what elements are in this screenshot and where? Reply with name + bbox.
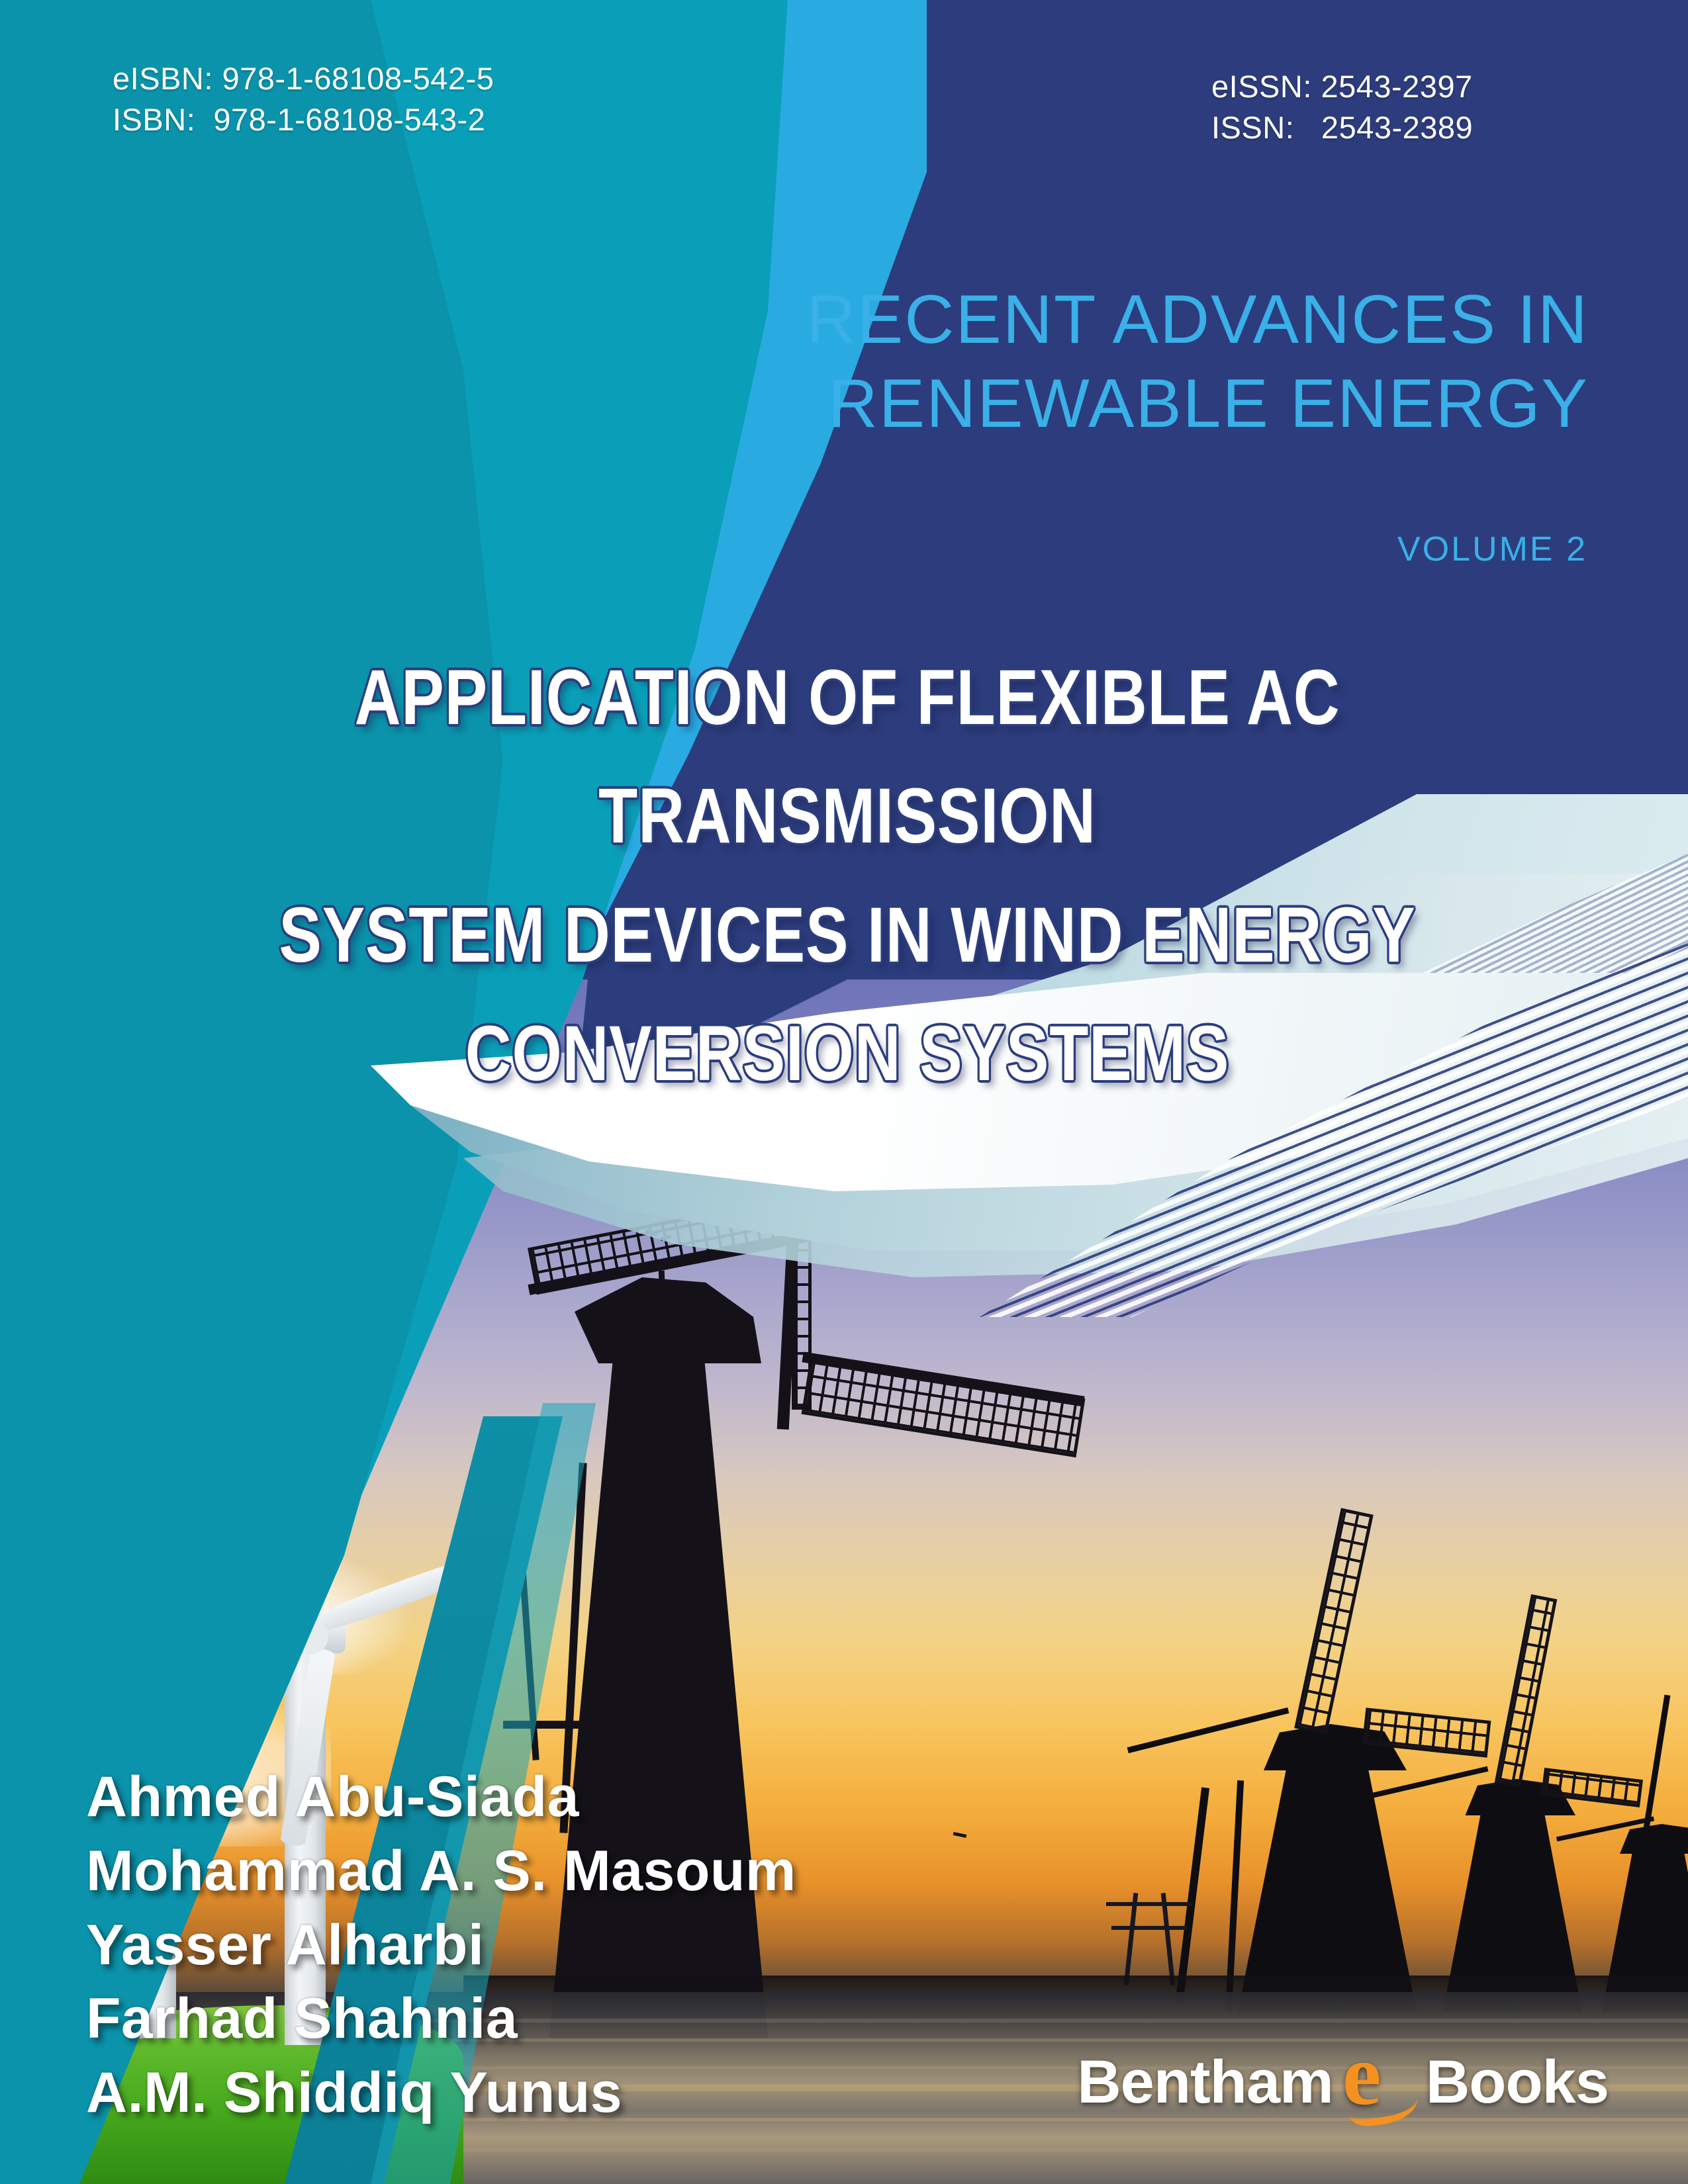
book-title-line1: APPLICATION OF FLEXIBLE AC TRANSMISSION bbox=[218, 639, 1477, 876]
isbn-block: eISBN: 978-1-68108-542-5 ISBN: 978-1-681… bbox=[113, 58, 494, 140]
series-title: RECENT ADVANCES IN RENEWABLE ENERGY bbox=[0, 278, 1589, 446]
volume-label: VOLUME 2 bbox=[1397, 529, 1587, 569]
publisher-name-books: Books bbox=[1426, 2048, 1609, 2117]
author-name: A.M. Shiddiq Yunus bbox=[86, 2056, 796, 2130]
author-name: Ahmed Abu-Siada bbox=[86, 1760, 796, 1835]
series-title-line1: RECENT ADVANCES IN bbox=[0, 278, 1589, 362]
publisher-logo: Bentham e Books bbox=[1077, 2045, 1609, 2119]
publisher-name-bentham: Bentham bbox=[1077, 2048, 1333, 2117]
author-name: Mohammad A. S. Masoum bbox=[86, 1835, 796, 1909]
author-list: Ahmed Abu-Siada Mohammad A. S. Masoum Ya… bbox=[86, 1760, 796, 2130]
issn-block: eISSN: 2543-2397 ISSN: 2543-2389 bbox=[1211, 66, 1473, 148]
book-title: APPLICATION OF FLEXIBLE AC TRANSMISSION … bbox=[79, 639, 1615, 1113]
author-name: Farhad Shahnia bbox=[86, 1982, 796, 2056]
book-cover: eISBN: 978-1-68108-542-5 ISBN: 978-1-681… bbox=[0, 0, 1688, 2184]
book-title-line3: CONVERSION SYSTEMS bbox=[218, 995, 1477, 1113]
series-title-line2: RENEWABLE ENERGY bbox=[0, 362, 1589, 446]
book-title-line2: SYSTEM DEVICES IN WIND ENERGY bbox=[218, 876, 1477, 995]
bentham-e-icon: e bbox=[1342, 2045, 1417, 2119]
author-name: Yasser Alharbi bbox=[86, 1909, 796, 1983]
